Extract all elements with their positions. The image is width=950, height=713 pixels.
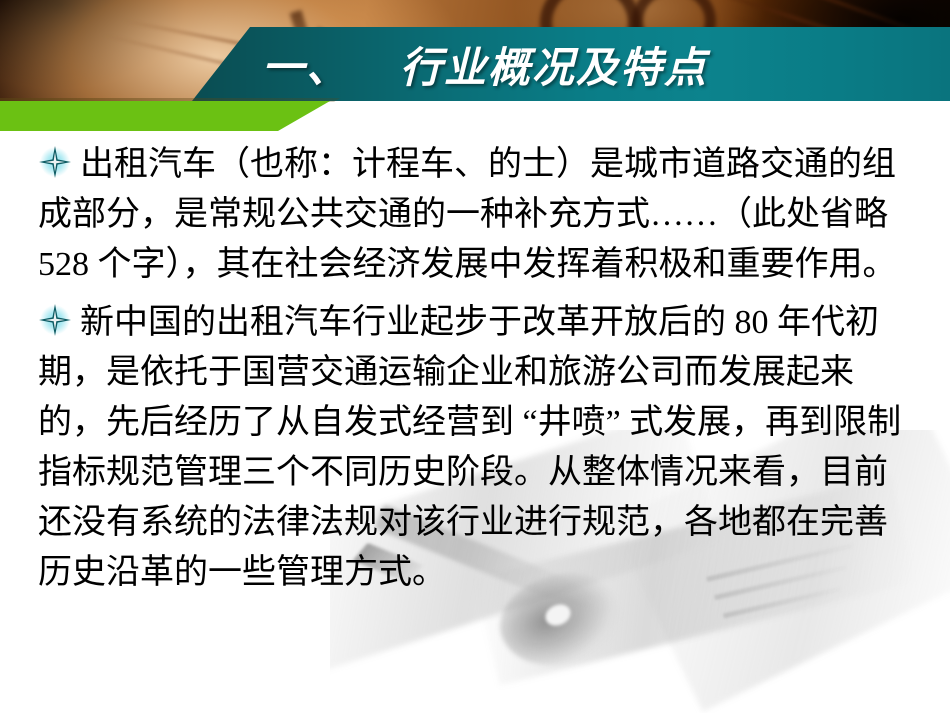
bullet-paragraph: 新中国的出租汽车行业起步于改革开放后的 80 年代初期，是依托于国营交通运输企业… bbox=[38, 298, 918, 598]
green-accent-strip bbox=[0, 101, 330, 131]
bullet-text: 出租汽车（也称：计程车、的士）是城市道路交通的组成部分，是常规公共交通的一种补充… bbox=[38, 146, 897, 283]
slide-canvas: 一、 行业概况及特点 出租汽车（也称 bbox=[0, 0, 950, 713]
four-point-star-icon bbox=[38, 303, 72, 337]
slide-body: 出租汽车（也称：计程车、的士）是城市道路交通的组成部分，是常规公共交通的一种补充… bbox=[38, 140, 918, 598]
four-point-star-icon bbox=[38, 145, 72, 179]
bullet-paragraph: 出租汽车（也称：计程车、的士）是城市道路交通的组成部分，是常规公共交通的一种补充… bbox=[38, 140, 918, 290]
bullet-text: 新中国的出租汽车行业起步于改革开放后的 80 年代初期，是依托于国营交通运输企业… bbox=[38, 304, 901, 591]
watermark-ink-highlight bbox=[542, 601, 574, 630]
